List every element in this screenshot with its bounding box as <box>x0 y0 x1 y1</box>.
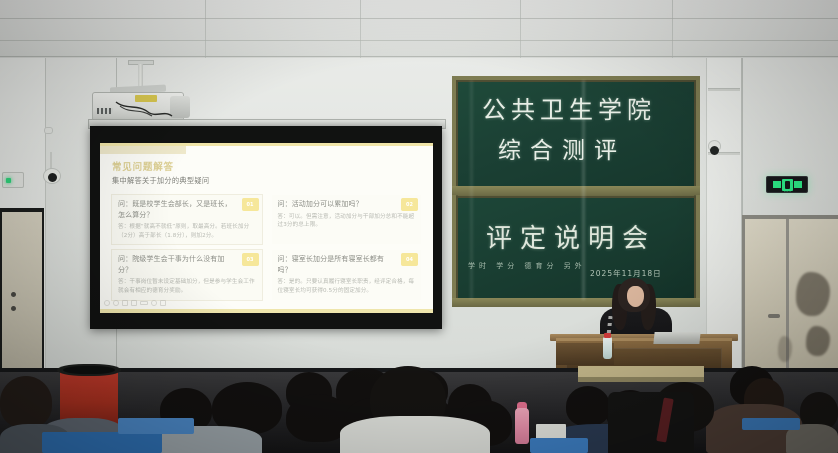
exit-arrow-left-icon <box>773 181 781 188</box>
slide-subtitle: 集中解答关于加分的典型疑问 <box>112 176 421 186</box>
ceiling-panel-seam <box>205 0 206 58</box>
exit-arrow-right-icon <box>794 181 802 188</box>
faq-card-grid: 01 问：既是校学生会部长，又是班长，怎么算分？ 答：根据“就高不就低”原则，取… <box>112 195 421 300</box>
left-door-handle-lower[interactable] <box>11 306 16 311</box>
ceiling-seam <box>0 40 838 41</box>
pillar-band <box>708 88 740 91</box>
left-door-handle[interactable] <box>11 292 16 297</box>
close-icon[interactable] <box>131 300 137 306</box>
card-answer: 答：根据“就高不就低”原则，取最高分。若班长加分（2分）高于部长（1.8分），则… <box>118 223 257 240</box>
desk <box>742 418 800 430</box>
right-door-handle[interactable] <box>768 314 780 318</box>
camera-lens-icon <box>48 173 57 182</box>
slide-list-icon[interactable] <box>140 301 148 305</box>
blackboard-bottom-rail <box>452 298 700 307</box>
camera-lens-icon <box>710 146 719 155</box>
exit-sign-label: EXIT <box>767 189 809 193</box>
wall-seam <box>742 58 743 218</box>
faq-card: 04 问：寝室长加分是所有寝室长都有吗？ 答：是的。只要认真履行寝室长职责，经评… <box>272 250 422 299</box>
backpack <box>608 392 694 453</box>
green-led-icon <box>6 178 11 183</box>
blackboard-line-2: 综合测评 <box>498 131 626 165</box>
card-question: 问：院级学生会干事为什么没有加分？ <box>118 254 257 275</box>
ceiling-seam <box>0 18 838 19</box>
card-badge: 03 <box>242 253 259 266</box>
wall-status-indicator <box>2 172 24 188</box>
faq-card: 01 问：既是校学生会部长，又是班长，怎么算分？ 答：根据“就高不就低”原则，取… <box>112 195 262 244</box>
next-icon[interactable] <box>160 300 166 306</box>
ceiling-panel-seam <box>360 0 361 58</box>
card-badge: 02 <box>401 198 418 211</box>
water-bottle-podium <box>603 337 612 359</box>
ceiling-panel-seam <box>672 0 673 58</box>
card-question: 问：寝室长加分是所有寝室长都有吗？ <box>278 254 417 275</box>
blackboard-line-1: 公共卫生学院 <box>482 90 656 125</box>
presenter-face <box>627 286 644 307</box>
blackboard-notes: 学时 学分 德育分 另外 <box>468 261 586 271</box>
play-icon[interactable] <box>104 300 110 306</box>
card-answer: 答：干事岗位暂未设定基础加分，但是参与学生会工作就会有相应的德育分奖励。 <box>118 278 257 295</box>
desk <box>118 418 194 434</box>
projector-vent <box>97 108 113 114</box>
slide-title: 常见问题解答 <box>112 159 421 173</box>
laptop[interactable] <box>653 332 700 344</box>
audience-head <box>0 376 52 428</box>
lecture-hall-photo: EXIT 常见问题解答 集中解答关于加分的典型疑问 01 问：既是校学生会部长 <box>0 0 838 453</box>
pointer-icon[interactable] <box>122 300 128 306</box>
more-icon[interactable] <box>151 300 157 306</box>
desk <box>530 438 588 453</box>
faq-card: 02 问：活动加分可以累加吗？ 答：可以。但需注意，活动加分与干部加分总和不能超… <box>272 195 422 244</box>
left-door[interactable] <box>2 212 42 388</box>
water-bottle-cap <box>604 333 611 338</box>
ceiling-edge <box>0 56 838 57</box>
blackboard-line-3: 评定说明会 <box>486 218 656 255</box>
desk <box>42 432 162 453</box>
card-badge: 01 <box>242 198 259 211</box>
pen-icon[interactable] <box>113 300 119 306</box>
presentation-slide: 常见问题解答 集中解答关于加分的典型疑问 01 问：既是校学生会部长，又是班长，… <box>100 143 433 313</box>
card-question: 问：活动加分可以累加吗？ <box>278 199 417 210</box>
audience-head <box>566 386 610 426</box>
slide-control-toolbar[interactable] <box>104 300 166 306</box>
ceiling-panel-seam <box>520 0 521 58</box>
card-answer: 答：是的。只要认真履行寝室长职责，经评定合格，每位寝室长均可获得0.5分的固定加… <box>278 278 417 295</box>
faq-card: 03 问：院级学生会干事为什么没有加分？ 答：干事岗位暂未设定基础加分，但是参与… <box>112 250 262 299</box>
audience-shoulders-front <box>340 416 490 453</box>
blackboard-date: 2025年11月18日 <box>590 268 662 279</box>
exit-sign: EXIT <box>766 176 808 193</box>
card-question: 问：既是校学生会部长，又是班长，怎么算分？ <box>118 199 257 220</box>
card-badge: 04 <box>401 253 418 266</box>
blackboard-chalk-rail <box>452 186 700 195</box>
trash-bin-opening <box>63 366 115 374</box>
card-answer: 答：可以。但需注意，活动加分与干部加分总和不能超过3分的总上限。 <box>278 213 417 230</box>
right-door-split <box>786 219 789 388</box>
wall-fixture <box>44 127 53 134</box>
pink-water-bottle <box>515 408 529 444</box>
